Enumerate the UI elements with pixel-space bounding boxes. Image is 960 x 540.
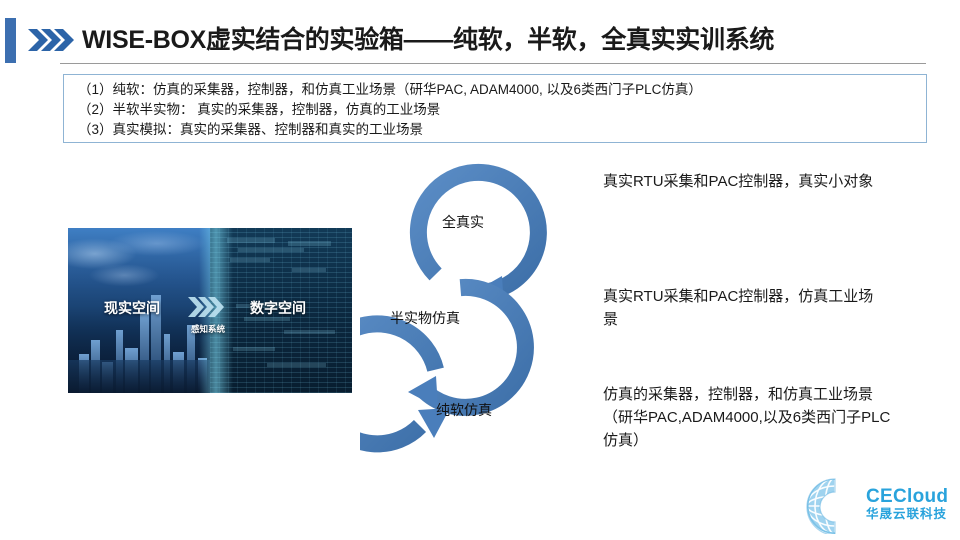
logo-wordmark: CECloud 华晟云联科技 <box>866 486 948 522</box>
description-pure-software-main: 仿真的采集器，控制器，和仿真工业场景 <box>603 386 873 403</box>
description-pure-software: 仿真的采集器，控制器，和仿真工业场景 （研华PAC,ADAM4000,以及6类西… <box>603 383 903 452</box>
globe-c-logo-icon <box>806 478 864 534</box>
triple-chevron-right-icon <box>28 25 74 55</box>
cecloud-logo: CECloud 华晟云联科技 <box>806 478 956 536</box>
cycle-node-label-1: 全真实 <box>442 212 484 232</box>
title-divider <box>60 63 926 64</box>
image-river-layer <box>68 360 210 393</box>
list-item: （3）真实模拟：真实的采集器、控制器和真实的工业场景 <box>78 120 928 140</box>
sensing-arrows-icon <box>188 294 228 320</box>
cycle-node-label-2: 半实物仿真 <box>390 308 460 328</box>
circular-arrow-icon <box>360 324 450 444</box>
description-pure-software-sub: （研华PAC,ADAM4000,以及6类西门子PLC仿真） <box>603 406 903 452</box>
physical-digital-space-image: 现实空间 感知系统 数字空间 <box>68 228 352 393</box>
list-item: （1）纯软：仿真的采集器，控制器，和仿真工业场景（研华PAC, ADAM4000… <box>78 80 928 100</box>
logo-name-cn: 华晟云联科技 <box>866 507 948 522</box>
cycle-diagram: 全真实 半实物仿真 纯软仿真 <box>360 160 590 470</box>
image-label-sensing: 感知系统 <box>191 323 225 335</box>
title-accent-bar <box>5 18 16 63</box>
slide-canvas: WISE-BOX虚实结合的实验箱——纯软，半软，全真实实训系统 （1）纯软：仿真… <box>0 0 960 540</box>
cycle-node-label-3: 纯软仿真 <box>436 400 492 420</box>
image-label-physical: 现实空间 <box>104 298 160 318</box>
description-fully-real: 真实RTU采集和PAC控制器，真实小对象 <box>603 170 888 193</box>
summary-list: （1）纯软：仿真的采集器，控制器，和仿真工业场景（研华PAC, ADAM4000… <box>78 80 928 140</box>
description-semi-physical: 真实RTU采集和PAC控制器，仿真工业场景 <box>603 285 888 331</box>
image-label-digital: 数字空间 <box>250 298 306 318</box>
logo-name-en: CECloud <box>866 486 948 507</box>
list-item: （2）半软半实物： 真实的采集器，控制器，仿真的工业场景 <box>78 100 928 120</box>
page-title: WISE-BOX虚实结合的实验箱——纯软，半软，全真实实训系统 <box>82 20 774 56</box>
